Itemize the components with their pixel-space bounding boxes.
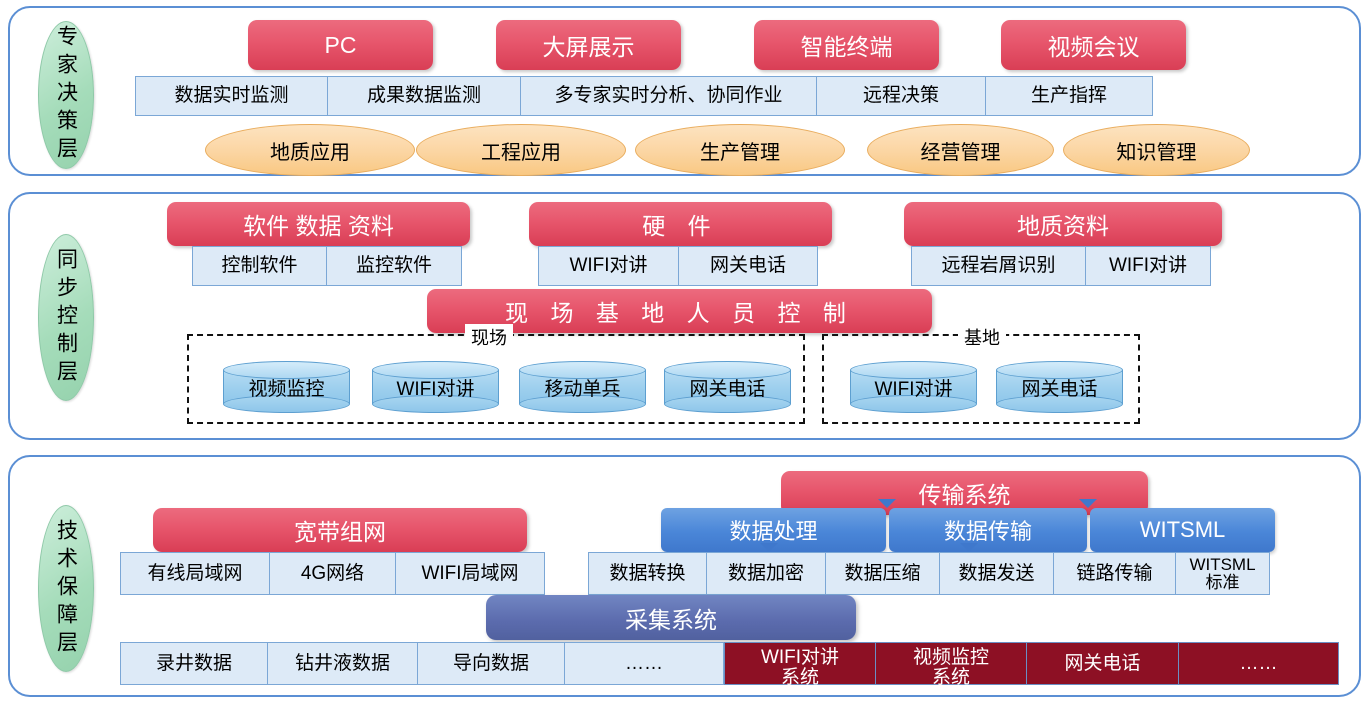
sync-group-banner-hardware-label: 硬 件 (642, 207, 718, 241)
expert-application-oval[interactable]: 知识管理 (1063, 124, 1250, 176)
transmission-item-label: 数据加密 (728, 564, 804, 584)
sync-node-label: 网关电话 (664, 361, 791, 413)
sync-group-cell[interactable]: 网关电话 (678, 246, 818, 286)
sync-group-cell[interactable]: 控制软件 (192, 246, 327, 286)
system-item-cell[interactable]: 视频监控 系统 (875, 642, 1027, 685)
data-item-label: …… (625, 654, 663, 674)
sync-group-cell[interactable]: WIFI对讲 (538, 246, 679, 286)
layer-label-expert-text: 专家决策层 (56, 25, 77, 165)
transmission-item-cell[interactable]: 链路传输 (1053, 552, 1176, 595)
system-item-cell[interactable]: WIFI对讲 系统 (724, 642, 876, 685)
layer-panel-sync: 同步控制层 软件 数据 资料 控制软件 监控软件 硬 件 WIFI对讲 网关电话… (8, 192, 1361, 440)
network-banner-label: 宽带组网 (294, 513, 386, 547)
sync-node-cylinder[interactable]: WIFI对讲 (372, 361, 499, 413)
transmission-stage-label: 数据传输 (944, 514, 1032, 546)
sync-group-cell-label: 控制软件 (221, 256, 297, 276)
device-banner-smart-terminal-label: 智能终端 (801, 28, 893, 62)
sync-group-cell[interactable]: WIFI对讲 (1085, 246, 1211, 286)
data-item-cell[interactable]: 录井数据 (120, 642, 268, 685)
expert-application-oval[interactable]: 生产管理 (635, 124, 845, 176)
expert-function-label: 数据实时监测 (174, 86, 288, 106)
network-item-cell[interactable]: 有线局域网 (120, 552, 270, 595)
expert-application-label: 知识管理 (1117, 136, 1197, 165)
system-item-cell[interactable]: 网关电话 (1026, 642, 1179, 685)
data-item-label: 钻井液数据 (295, 654, 390, 674)
data-item-cell[interactable]: 导向数据 (417, 642, 565, 685)
sync-group-banner-software[interactable]: 软件 数据 资料 (167, 202, 470, 246)
sync-group-row-geology: 远程岩屑识别 WIFI对讲 (911, 246, 1211, 286)
transmission-item-label: 数据发送 (958, 564, 1034, 584)
expert-function-row: 数据实时监测 成果数据监测 多专家实时分析、协同作业 远程决策 生产指挥 (135, 76, 1153, 116)
stage-notch-icon (878, 499, 896, 508)
expert-application-label: 工程应用 (481, 136, 561, 165)
expert-application-oval[interactable]: 工程应用 (416, 124, 626, 176)
sync-node-label: 视频监控 (223, 361, 350, 413)
system-item-label: 视频监控 系统 (913, 648, 989, 688)
sync-group-cell[interactable]: 监控软件 (326, 246, 462, 286)
layer-label-sync-text: 同步控制层 (56, 248, 77, 388)
expert-application-oval[interactable]: 经营管理 (867, 124, 1054, 176)
sync-node-label: WIFI对讲 (850, 361, 977, 413)
sync-node-cylinder[interactable]: 网关电话 (664, 361, 791, 413)
sync-group-cell-label: 网关电话 (710, 256, 786, 276)
transmission-item-label: 数据转换 (609, 564, 685, 584)
network-item-label: WIFI局域网 (421, 564, 518, 584)
device-banner-video-conference-label: 视频会议 (1048, 28, 1140, 62)
network-banner[interactable]: 宽带组网 (153, 508, 527, 552)
sync-group-cell[interactable]: 远程岩屑识别 (911, 246, 1086, 286)
transmission-items-row: 数据转换 数据加密 数据压缩 数据发送 链路传输 WITSML 标准 (588, 552, 1270, 595)
expert-function-label: 成果数据监测 (367, 86, 481, 106)
data-item-label: 录井数据 (156, 654, 232, 674)
expert-application-label: 生产管理 (700, 136, 780, 165)
layer-label-tech: 技术保障层 (38, 505, 94, 672)
device-banner-bigscreen[interactable]: 大屏展示 (496, 20, 681, 70)
sync-group-cell-label: WIFI对讲 (569, 256, 647, 276)
layer-panel-expert: 专家决策层 PC 大屏展示 智能终端 视频会议 数据实时监测 成果数据监测 多专… (8, 6, 1361, 176)
expert-function-cell[interactable]: 多专家实时分析、协同作业 (520, 76, 817, 116)
transmission-item-cell[interactable]: WITSML 标准 (1175, 552, 1270, 595)
sync-node-cylinder[interactable]: 视频监控 (223, 361, 350, 413)
network-items-row: 有线局域网 4G网络 WIFI局域网 (120, 552, 545, 595)
system-item-label: WIFI对讲 系统 (761, 648, 839, 688)
device-banner-video-conference[interactable]: 视频会议 (1001, 20, 1186, 70)
expert-function-cell[interactable]: 成果数据监测 (327, 76, 521, 116)
acquisition-banner[interactable]: 采集系统 (486, 595, 856, 640)
transmission-stage-bar[interactable]: WITSML (1090, 508, 1275, 552)
sync-zone-site-caption: 现场 (465, 324, 513, 350)
transmission-stage-label: 数据处理 (729, 514, 817, 546)
layer-label-tech-text: 技术保障层 (56, 519, 77, 659)
network-item-cell[interactable]: WIFI局域网 (395, 552, 545, 595)
sync-group-banner-geology[interactable]: 地质资料 (904, 202, 1222, 246)
expert-function-cell[interactable]: 远程决策 (816, 76, 986, 116)
network-item-label: 4G网络 (301, 564, 364, 584)
layer-panel-tech: 技术保障层 传输系统 宽带组网 数据处理 数据传输 WITSML 有线局域网 4… (8, 455, 1361, 697)
stage-notch-icon (1079, 499, 1097, 508)
transmission-stage-label: WITSML (1140, 517, 1226, 543)
sync-node-label: 网关电话 (996, 361, 1123, 413)
sync-group-cell-label: 远程岩屑识别 (941, 256, 1055, 276)
sync-control-banner-label: 现 场 基 地 人 员 控 制 (505, 294, 854, 328)
layer-label-sync: 同步控制层 (38, 234, 94, 401)
sync-group-row-software: 控制软件 监控软件 (192, 246, 462, 286)
system-item-label: 网关电话 (1064, 654, 1140, 674)
layer-label-expert: 专家决策层 (38, 21, 94, 169)
expert-function-label: 生产指挥 (1031, 86, 1107, 106)
network-item-cell[interactable]: 4G网络 (269, 552, 396, 595)
sync-node-label: 移动单兵 (519, 361, 646, 413)
expert-function-cell[interactable]: 数据实时监测 (135, 76, 328, 116)
data-item-cell[interactable]: 钻井液数据 (267, 642, 418, 685)
sync-group-cell-label: WIFI对讲 (1109, 256, 1187, 276)
expert-application-oval[interactable]: 地质应用 (205, 124, 415, 176)
expert-application-label: 地质应用 (270, 136, 350, 165)
data-items-row: 录井数据 钻井液数据 导向数据 …… (120, 642, 724, 685)
expert-function-cell[interactable]: 生产指挥 (985, 76, 1153, 116)
sync-group-banner-hardware[interactable]: 硬 件 (529, 202, 832, 246)
expert-function-label: 多专家实时分析、协同作业 (554, 86, 782, 106)
transmission-stage-bar[interactable]: 数据传输 (889, 508, 1087, 552)
sync-group-banner-geology-label: 地质资料 (1017, 207, 1109, 241)
network-item-label: 有线局域网 (147, 564, 242, 584)
sync-group-row-hardware: WIFI对讲 网关电话 (538, 246, 818, 286)
transmission-item-label: 数据压缩 (844, 564, 920, 584)
transmission-item-cell[interactable]: 数据发送 (939, 552, 1054, 595)
device-banner-pc[interactable]: PC (248, 20, 433, 70)
expert-application-label: 经营管理 (921, 136, 1001, 165)
data-item-cell[interactable]: …… (564, 642, 724, 685)
sync-zone-base-caption: 基地 (958, 324, 1006, 350)
system-items-row: WIFI对讲 系统 视频监控 系统 网关电话 …… (724, 642, 1339, 685)
stage-notch-icon (960, 543, 978, 552)
device-banner-smart-terminal[interactable]: 智能终端 (754, 20, 939, 70)
device-banner-bigscreen-label: 大屏展示 (543, 28, 635, 62)
sync-node-cylinder[interactable]: WIFI对讲 (850, 361, 977, 413)
sync-node-cylinder[interactable]: 移动单兵 (519, 361, 646, 413)
stage-notch-icon (760, 543, 778, 552)
transmission-item-label: 链路传输 (1076, 564, 1152, 584)
device-banner-pc-label: PC (325, 32, 357, 59)
transmission-item-cell[interactable]: 数据压缩 (825, 552, 940, 595)
sync-node-label: WIFI对讲 (372, 361, 499, 413)
system-item-cell[interactable]: …… (1178, 642, 1339, 685)
transmission-item-label: WITSML 标准 (1189, 556, 1255, 592)
sync-group-cell-label: 监控软件 (356, 256, 432, 276)
transmission-item-cell[interactable]: 数据转换 (588, 552, 707, 595)
sync-node-cylinder[interactable]: 网关电话 (996, 361, 1123, 413)
acquisition-banner-label: 采集系统 (625, 601, 717, 635)
system-item-label: …… (1240, 654, 1278, 674)
sync-group-banner-software-label: 软件 数据 资料 (243, 207, 394, 241)
transmission-item-cell[interactable]: 数据加密 (706, 552, 826, 595)
data-item-label: 导向数据 (453, 654, 529, 674)
transmission-banner-label: 传输系统 (919, 476, 1011, 510)
expert-function-label: 远程决策 (863, 86, 939, 106)
